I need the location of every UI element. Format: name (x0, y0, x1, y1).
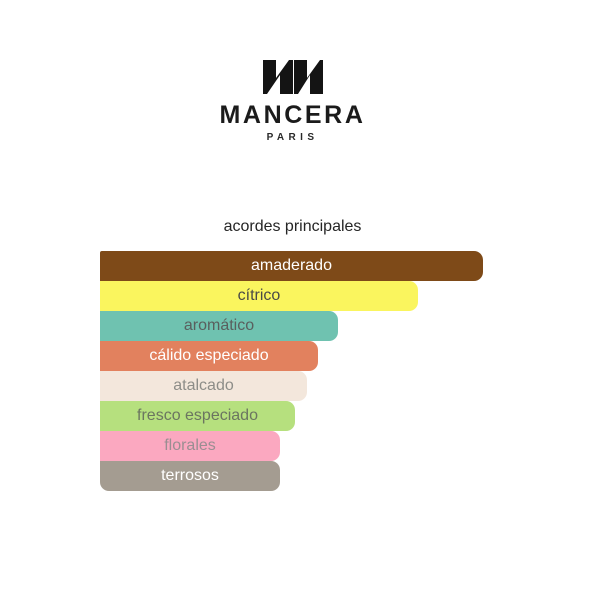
accord-label: florales (164, 438, 216, 454)
brand-subtitle: PARIS (100, 133, 485, 143)
accord-label: cálido especiado (149, 348, 268, 364)
accord-row: atalcado (100, 371, 500, 401)
brand-name: MANCERA (100, 103, 485, 128)
accord-bar[interactable]: cítrico (100, 281, 418, 311)
accord-label: cítrico (238, 288, 281, 304)
accord-bar[interactable]: terrosos (100, 461, 280, 491)
accord-row: cálido especiado (100, 341, 500, 371)
accord-label: terrosos (161, 468, 219, 484)
accord-bar[interactable]: florales (100, 431, 280, 461)
accord-bar[interactable]: fresco especiado (100, 401, 295, 431)
accord-bar[interactable]: amaderado (100, 251, 483, 281)
accord-label: aromático (184, 318, 254, 334)
mancera-m-logo-icon (263, 60, 323, 94)
accord-label: amaderado (251, 258, 332, 274)
brand-block: MANCERA PARIS (100, 60, 485, 143)
accord-row: aromático (100, 311, 500, 341)
accord-row: fresco especiado (100, 401, 500, 431)
section-title: acordes principales (100, 219, 485, 235)
accord-row: florales (100, 431, 500, 461)
main-accords-chart: amaderadocítricoaromáticocálido especiad… (100, 251, 500, 491)
accord-label: fresco especiado (137, 408, 258, 424)
fragrance-accords-card: MANCERA PARIS acordes principales amader… (0, 0, 600, 600)
accord-bar[interactable]: aromático (100, 311, 338, 341)
accord-row: cítrico (100, 281, 500, 311)
accord-bar[interactable]: atalcado (100, 371, 307, 401)
accord-row: amaderado (100, 251, 500, 281)
accord-row: terrosos (100, 461, 500, 491)
accord-label: atalcado (173, 378, 234, 394)
accord-bar[interactable]: cálido especiado (100, 341, 318, 371)
